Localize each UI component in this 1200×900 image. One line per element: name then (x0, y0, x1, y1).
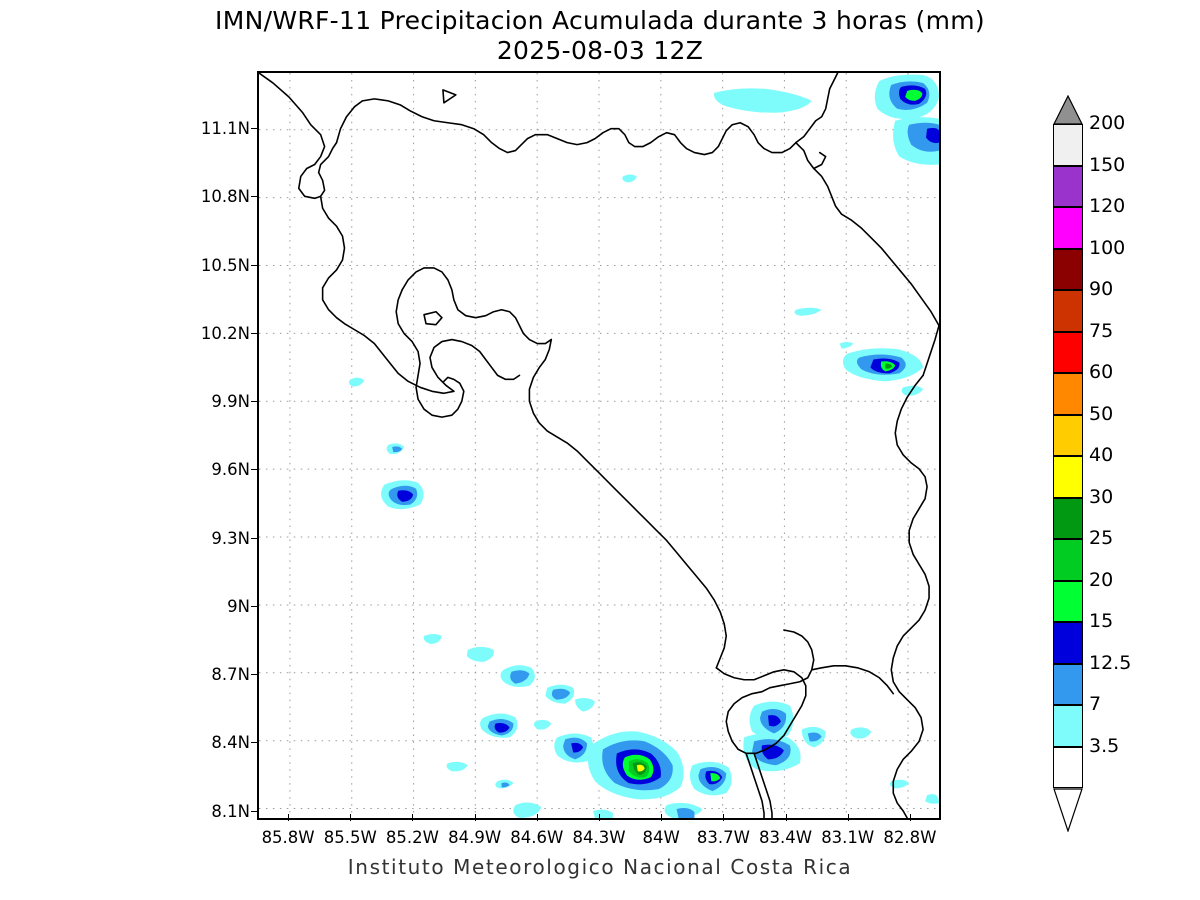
colorbar-tick-label: 90 (1089, 280, 1113, 299)
x-tick-mark (723, 814, 724, 821)
chart-title: IMN/WRF-11 Precipitacion Acumulada duran… (0, 6, 1200, 66)
precip-cell-caribbean-ne (875, 75, 939, 119)
colorbar-tick-label: 3.5 (1089, 737, 1119, 756)
precip-cell-east-99n (843, 348, 923, 381)
colorbar-band (1053, 622, 1083, 664)
precip-speck-pac-a (534, 720, 551, 730)
y-tick-label: 8.4N (194, 733, 250, 752)
colorbar-band (1053, 705, 1083, 747)
precip-speck-eastedge-a (925, 794, 939, 804)
x-tick-mark (475, 814, 476, 821)
colorbar-band (1053, 207, 1083, 249)
colorbar-tick-label: 100 (1089, 239, 1125, 258)
y-tick-mark (251, 538, 258, 539)
gridlines (259, 73, 939, 818)
colorbar-band (1053, 664, 1083, 706)
y-tick-mark (251, 196, 258, 197)
colorbar-band (1053, 498, 1083, 540)
y-tick-mark (251, 128, 258, 129)
y-tick-mark (251, 811, 258, 812)
colorbar-tick-label: 7 (1089, 695, 1101, 714)
colorbar-tick-label: 25 (1089, 529, 1113, 548)
x-tick-label: 84W (626, 828, 696, 847)
precip-band-pac-834w (743, 702, 825, 772)
x-tick-label: 83.1W (813, 828, 883, 847)
colorbar-band (1053, 373, 1083, 415)
x-tick-label: 85.2W (377, 828, 447, 847)
precip-speck-pac-833w (850, 727, 871, 738)
x-tick-mark (848, 814, 849, 821)
precip-speck-coast-108n (622, 174, 636, 182)
y-tick-label: 9.3N (194, 529, 250, 548)
precip-band-pac-84n (424, 634, 595, 712)
colorbar-band (1053, 290, 1083, 332)
y-tick-label: 8.1N (194, 802, 250, 821)
y-tick-mark (251, 674, 258, 675)
x-tick-mark (599, 814, 600, 821)
precip-speck-bottom-c (593, 809, 613, 818)
map-plot-area (257, 71, 941, 820)
y-tick-label: 9.6N (194, 460, 250, 479)
x-tick-label: 84.6W (502, 828, 572, 847)
x-tick-label: 84.9W (440, 828, 510, 847)
x-tick-mark (288, 814, 289, 821)
y-tick-label: 9N (194, 597, 250, 616)
colorbar-band (1053, 249, 1083, 291)
colorbar-band (1053, 124, 1083, 166)
y-tick-mark (251, 333, 258, 334)
x-tick-mark (786, 814, 787, 821)
colorbar-tick-label: 120 (1089, 197, 1125, 216)
title-line-1: IMN/WRF-11 Precipitacion Acumulada duran… (0, 6, 1200, 36)
colorbar-band (1053, 581, 1083, 623)
colorbar-tick-label: 12.5 (1089, 654, 1131, 673)
x-tick-mark (537, 814, 538, 821)
y-tick-mark (251, 401, 258, 402)
map-canvas (259, 73, 939, 818)
precip-band-caribbean-ne (714, 88, 812, 112)
footer-credit: Instituto Meteorologico Nacional Costa R… (0, 855, 1200, 879)
colorbar-tick-label: 75 (1089, 322, 1113, 341)
x-tick-label: 83.7W (688, 828, 758, 847)
y-tick-label: 10.2N (194, 324, 250, 343)
colorbar-band (1053, 332, 1083, 374)
colorbar-tick-label: 15 (1089, 612, 1113, 631)
y-tick-label: 8.7N (194, 665, 250, 684)
y-tick-mark (251, 606, 258, 607)
precip-cell-east-edge (893, 117, 939, 165)
x-tick-label: 84.3W (564, 828, 634, 847)
y-tick-label: 11.1N (194, 119, 250, 138)
colorbar-tick-label: 40 (1089, 446, 1113, 465)
x-tick-mark (350, 814, 351, 821)
colorbar-band (1053, 539, 1083, 581)
y-tick-mark (251, 265, 258, 266)
precipitation-field (349, 75, 939, 818)
colorbar-over-arrow (1053, 95, 1083, 125)
colorbar-tick-label: 20 (1089, 571, 1113, 590)
x-tick-mark (661, 814, 662, 821)
x-tick-mark (412, 814, 413, 821)
x-tick-label: 85.8W (253, 828, 323, 847)
precip-speck-pac-c (447, 762, 468, 772)
colorbar-band (1053, 456, 1083, 498)
colorbar-tick-label: 60 (1089, 363, 1113, 382)
precip-speck-nicoya (349, 378, 365, 387)
colorbar-band (1053, 415, 1083, 457)
y-tick-label: 10.5N (194, 256, 250, 275)
y-tick-mark (251, 742, 258, 743)
colorbar-tick-label: 50 (1089, 405, 1113, 424)
precip-cell-pacific-main (554, 731, 683, 799)
colorbar-tick-label: 200 (1089, 114, 1125, 133)
x-tick-mark (910, 814, 911, 821)
colorbar-band (1053, 166, 1083, 208)
precip-cell-pac-832n (480, 714, 517, 738)
colorbar-band (1053, 747, 1083, 789)
title-line-2: 2025-08-03 12Z (0, 36, 1200, 66)
colorbar-legend: 20015012010090756050403025201512.573.5 (1053, 96, 1173, 826)
precip-cell-pac-837w (690, 762, 732, 796)
y-tick-mark (251, 469, 258, 470)
precip-speck-coast-105n (795, 308, 822, 316)
colorbar-tick-label: 150 (1089, 156, 1125, 175)
colorbar-under-arrow (1053, 788, 1083, 832)
colorbar-tick-label: 30 (1089, 488, 1113, 507)
precip-speck-east-99n-b (840, 342, 854, 348)
x-tick-label: 83.4W (751, 828, 821, 847)
y-tick-label: 10.8N (194, 187, 250, 206)
x-tick-label: 82.8W (875, 828, 945, 847)
x-tick-label: 85.5W (315, 828, 385, 847)
precip-cell-pac-92n (381, 480, 424, 509)
y-tick-label: 9.9N (194, 392, 250, 411)
